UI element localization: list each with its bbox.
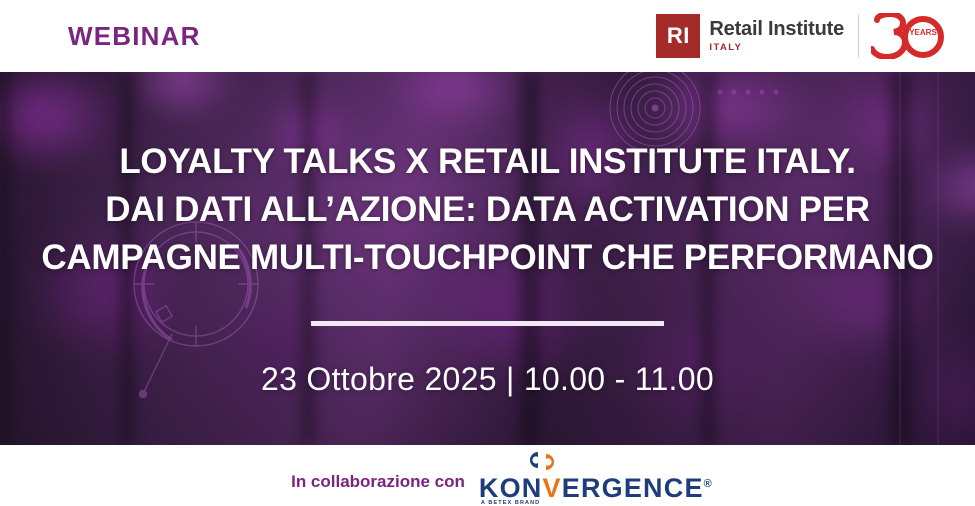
header-bar: WEBINAR RI Retail Institute ITALY YEARS xyxy=(0,0,975,72)
ri-country-text: ITALY xyxy=(709,43,844,53)
ri-badge-icon: RI xyxy=(656,14,700,58)
title-line-3: CAMPAGNE MULTI-TOUCHPOINT CHE PERFORMANO xyxy=(0,234,975,282)
webinar-promo-banner: WEBINAR RI Retail Institute ITALY YEARS xyxy=(0,0,975,506)
ri-name-text: Retail Institute xyxy=(709,19,844,39)
retail-institute-italy-logo: RI Retail Institute ITALY YEARS xyxy=(656,12,945,60)
konvergence-name-prefix: KON xyxy=(479,473,543,503)
title-line-1: LOYALTY TALKS X RETAIL INSTITUTE ITALY. xyxy=(0,138,975,186)
event-datetime: 23 Ottobre 2025 | 10.00 - 11.00 xyxy=(0,361,975,398)
logo-divider xyxy=(858,15,859,57)
title-line-2: DAI DATI ALL’AZIONE: DATA ACTIVATION PER xyxy=(0,186,975,234)
registered-trademark-icon: ® xyxy=(704,478,712,490)
title-divider xyxy=(311,321,664,326)
ri-wordmark: Retail Institute ITALY xyxy=(709,19,844,53)
anniversary-years-label: YEARS xyxy=(909,28,937,37)
konvergence-tagline: A BETEX BRAND xyxy=(481,500,540,506)
hero-text-block: LOYALTY TALKS X RETAIL INSTITUTE ITALY. … xyxy=(0,72,975,445)
konvergence-name-suffix: ERGENCE xyxy=(562,473,704,503)
footer-bar: In collaborazione con KONVERGENCE® A BET… xyxy=(0,445,975,506)
anniversary-30-years-icon: YEARS xyxy=(871,13,945,59)
page-title: LOYALTY TALKS X RETAIL INSTITUTE ITALY. … xyxy=(0,138,975,282)
konvergence-logo: KONVERGENCE® A BETEX BRAND xyxy=(479,448,684,504)
konvergence-name-accent: V xyxy=(543,473,562,503)
collaboration-label: In collaborazione con xyxy=(291,472,465,492)
hero-section: LOYALTY TALKS X RETAIL INSTITUTE ITALY. … xyxy=(0,72,975,445)
eyebrow-label: WEBINAR xyxy=(68,21,201,52)
